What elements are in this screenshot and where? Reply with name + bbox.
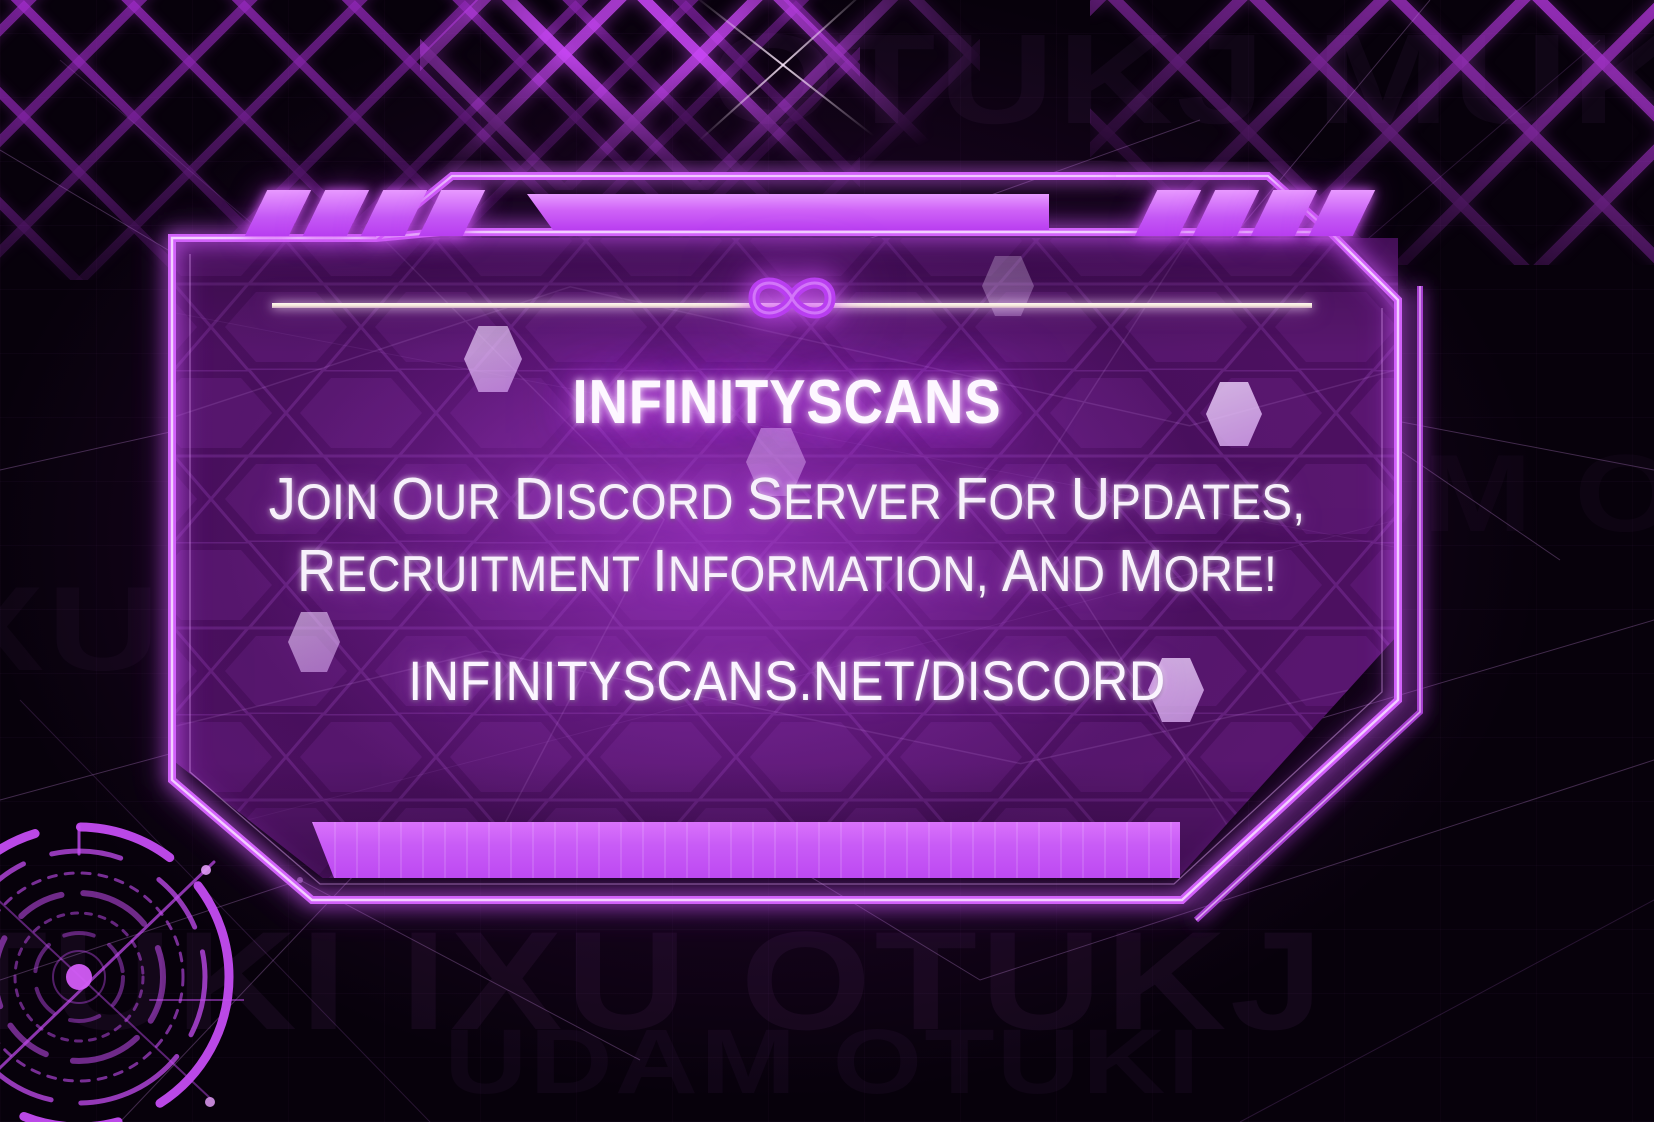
lattice-pattern-center (420, 0, 980, 190)
banner-stage: OTUKJ MUKU IXUM TUKI IXU OTUKJ UDAM OTUK… (0, 0, 1654, 1122)
slash-decor-right (1146, 190, 1364, 236)
discord-url[interactable]: INFINITYSCANS.NET/DISCORD (237, 648, 1337, 713)
divider-row (272, 300, 1312, 310)
top-accent-bar (527, 194, 1049, 230)
slash-icon (303, 190, 369, 236)
infinity-icon (736, 266, 848, 330)
tagline-line-2: RECRUITMENT INFORMATION, AND MORE! (262, 536, 1313, 608)
page-title: INFINITYSCANS (249, 372, 1324, 434)
tagline-line-1: JOIN OUR DISCORD SERVER FOR UPDATES, (262, 464, 1313, 536)
slash-icon (361, 190, 427, 236)
slash-decor-left (256, 190, 474, 236)
banner-content: INFINITYSCANS JOIN OUR DISCORD SERVER FO… (176, 238, 1398, 878)
slash-icon (1193, 190, 1259, 236)
slash-icon (1251, 190, 1317, 236)
tagline: JOIN OUR DISCORD SERVER FOR UPDATES, REC… (262, 464, 1313, 608)
